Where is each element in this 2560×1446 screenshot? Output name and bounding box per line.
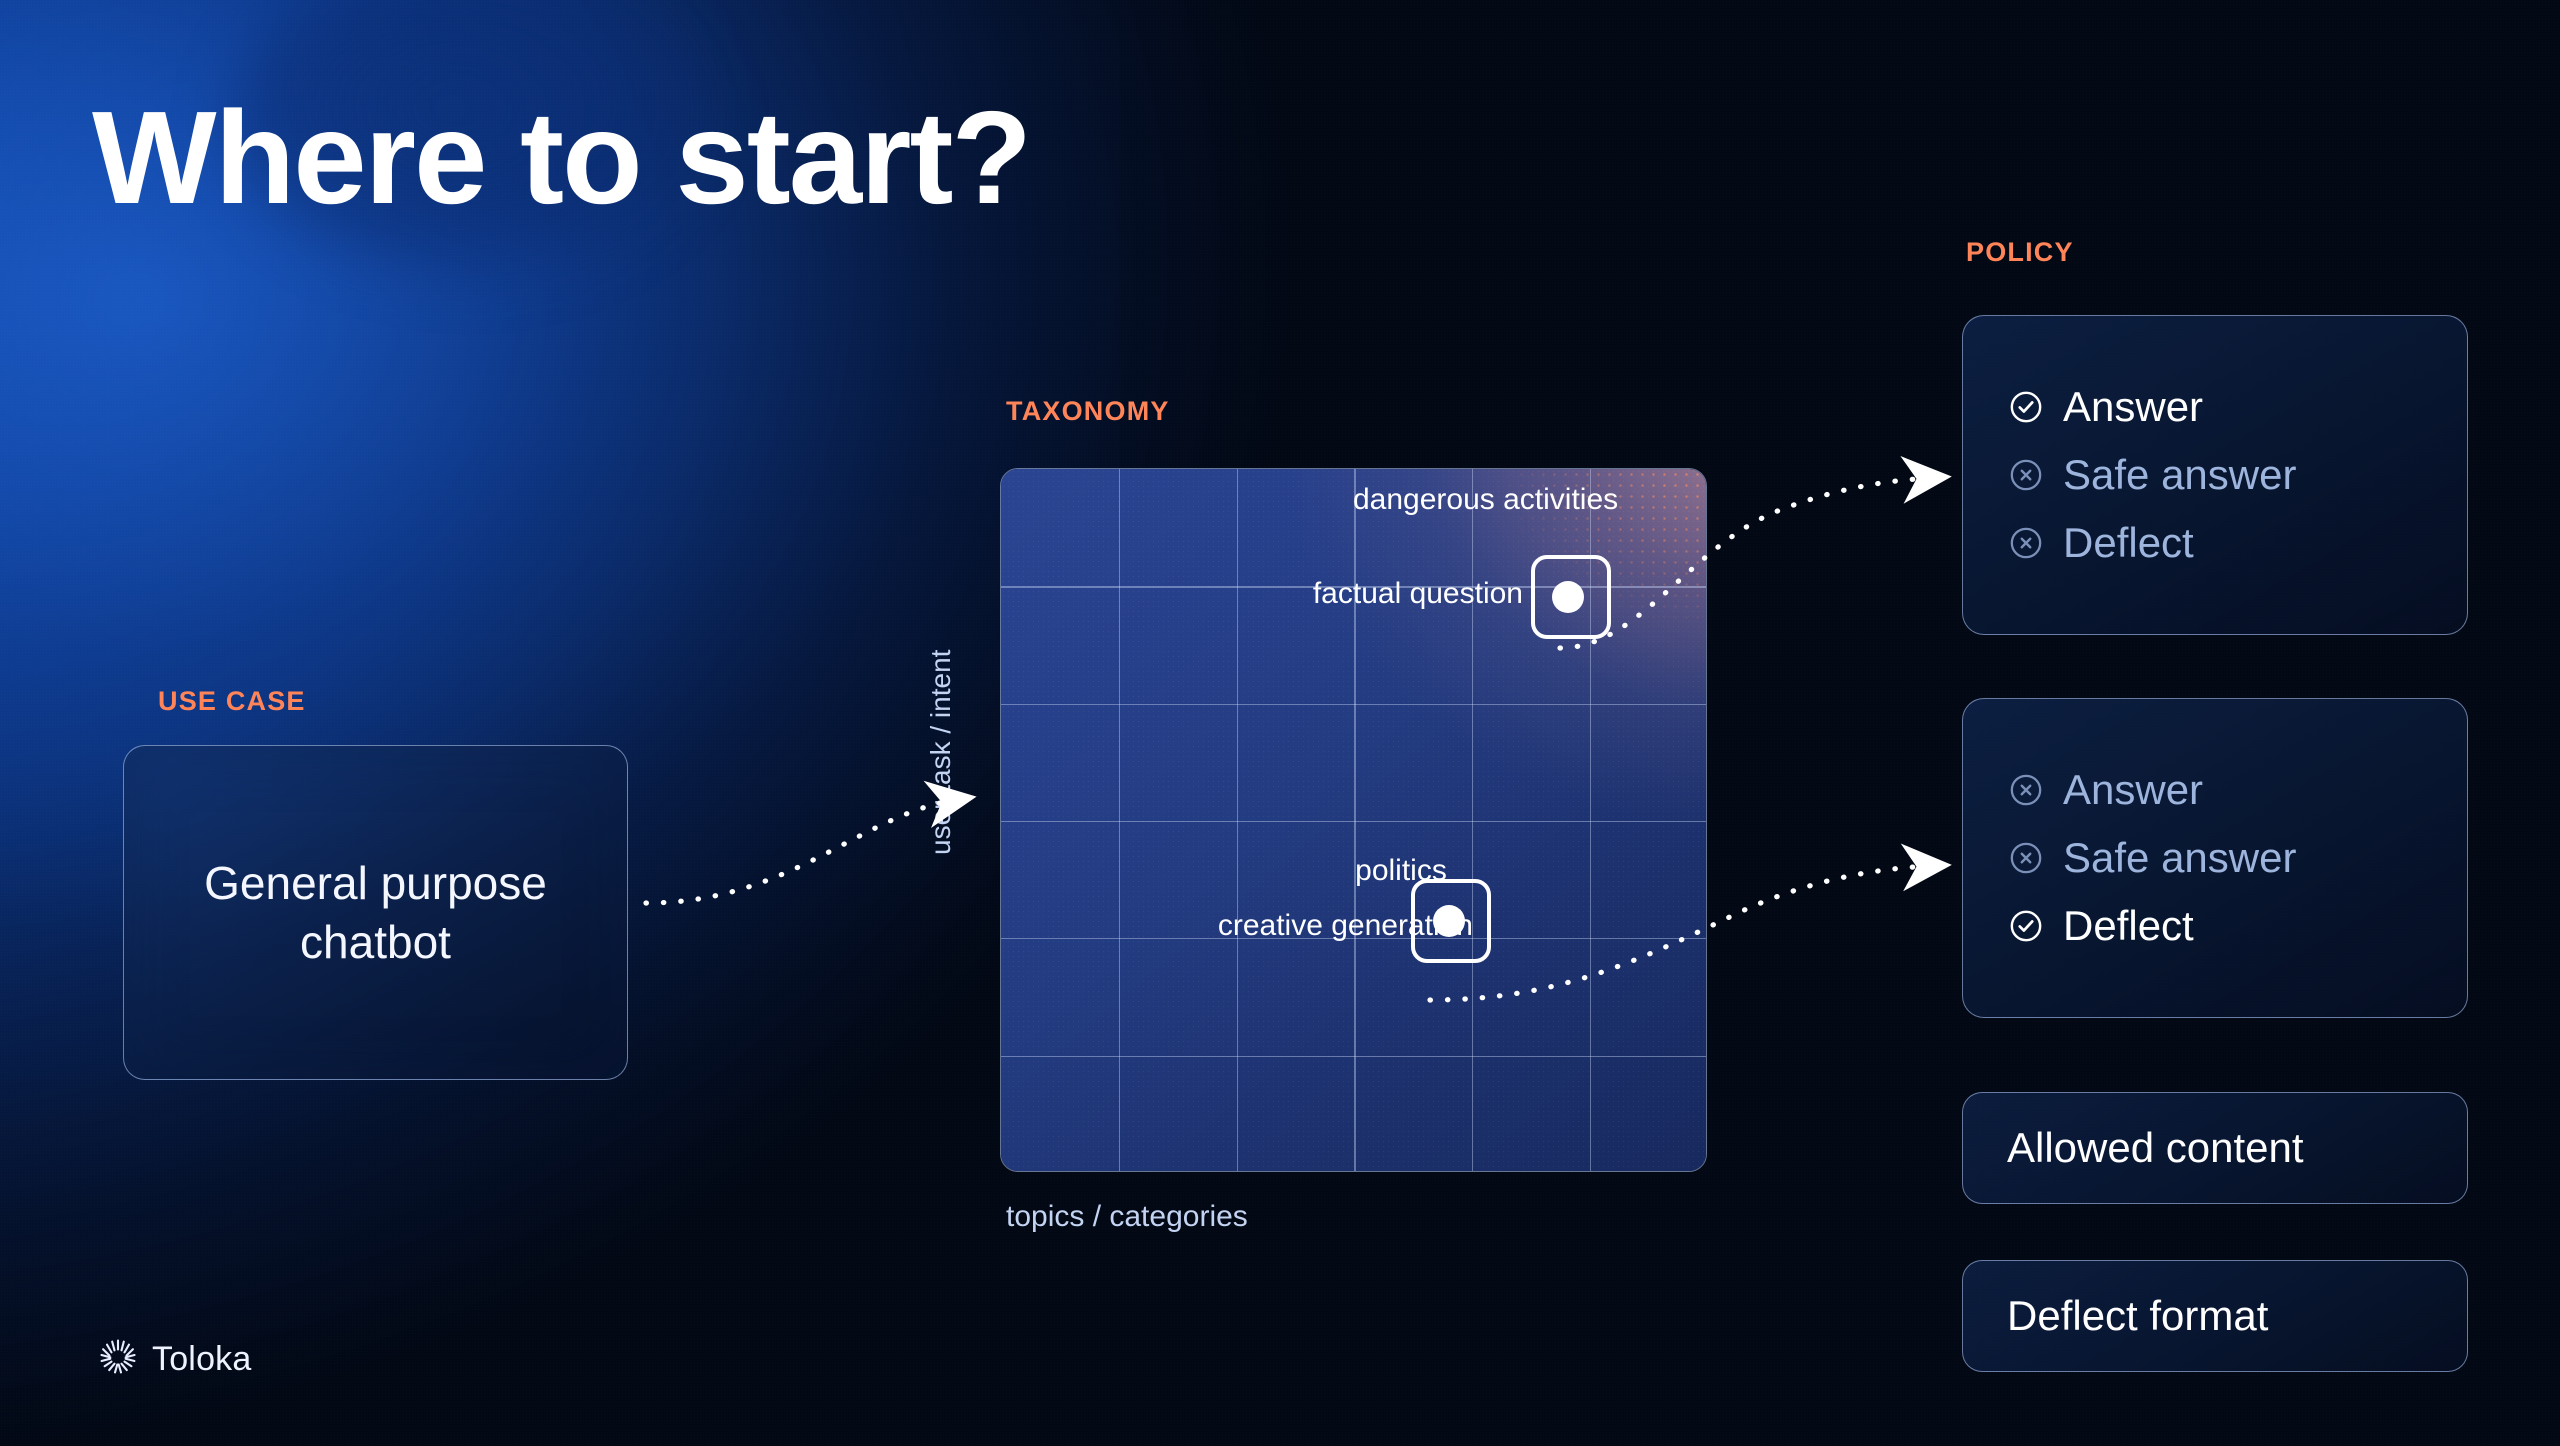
policy-option-row[interactable]: Answer: [2009, 386, 2421, 428]
policy-option-label: Deflect: [2063, 905, 2194, 947]
use-case-section-label: USE CASE: [158, 686, 306, 717]
taxonomy-section-label: TAXONOMY: [1006, 396, 1170, 427]
x-circle-icon: [2009, 458, 2043, 492]
brand-logo: Toloka: [98, 1337, 251, 1382]
policy-box-factual-question[interactable]: Answer Safe answer Deflect: [1962, 315, 2468, 635]
x-circle-icon: [2009, 773, 2043, 807]
page-title: Where to start?: [92, 92, 1030, 224]
cell-label-factual-question: factual question: [1231, 577, 1523, 611]
node-dot: [1433, 905, 1465, 937]
toloka-sunburst-icon: [98, 1337, 138, 1382]
policy-option-row[interactable]: Answer: [2009, 769, 2421, 811]
policy-option-label: Deflect: [2063, 522, 2194, 564]
creative-generation-node[interactable]: [1411, 879, 1491, 963]
policy-option-label: Safe answer: [2063, 837, 2296, 879]
policy-section-label: POLICY: [1966, 237, 2074, 268]
policy-option-label: Answer: [2063, 386, 2203, 428]
axis-label-y: user task / intent: [925, 650, 957, 855]
brand-name: Toloka: [152, 1340, 251, 1379]
policy-box-creative-generation[interactable]: Answer Safe answer Deflect: [1962, 698, 2468, 1018]
policy-option-label: Safe answer: [2063, 454, 2296, 496]
cell-label-politics: politics: [1251, 854, 1551, 888]
check-circle-icon: [2009, 390, 2043, 424]
x-circle-icon: [2009, 526, 2043, 560]
policy-option-row[interactable]: Deflect: [2009, 905, 2421, 947]
check-circle-icon: [2009, 909, 2043, 943]
slide-stage: Where to start? USE CASE General purpose…: [0, 0, 2560, 1446]
deflect-format-card[interactable]: Deflect format: [1962, 1260, 2468, 1372]
allowed-content-card[interactable]: Allowed content: [1962, 1092, 2468, 1204]
node-dot: [1552, 581, 1584, 613]
policy-option-label: Answer: [2063, 769, 2203, 811]
policy-option-row[interactable]: Safe answer: [2009, 837, 2421, 879]
x-circle-icon: [2009, 841, 2043, 875]
axis-label-x: topics / categories: [1006, 1200, 1248, 1234]
taxonomy-grid[interactable]: dangerous activities factual question po…: [1000, 468, 1707, 1172]
use-case-card[interactable]: General purpose chatbot: [123, 745, 628, 1080]
factual-question-node[interactable]: [1531, 555, 1611, 639]
use-case-card-text: General purpose chatbot: [124, 854, 627, 972]
policy-option-row[interactable]: Safe answer: [2009, 454, 2421, 496]
policy-option-row[interactable]: Deflect: [2009, 522, 2421, 564]
cell-label-dangerous-activities: dangerous activities: [1353, 483, 1603, 517]
